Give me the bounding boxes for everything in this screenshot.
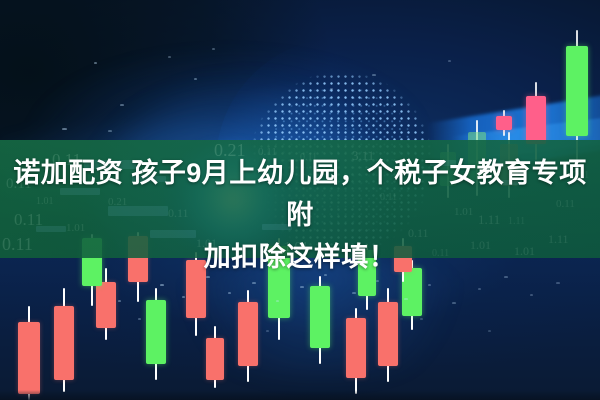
candle-body (378, 302, 398, 366)
candle-body (566, 46, 588, 136)
headline-line-2: 加扣除这样填！ (0, 236, 600, 278)
candle-body (238, 302, 258, 366)
candlestick (18, 306, 40, 400)
candlestick (206, 326, 224, 388)
candle-body (496, 116, 512, 130)
candlestick (378, 288, 398, 382)
candlestick (346, 308, 366, 394)
candlestick (496, 110, 512, 136)
candle-body (526, 96, 546, 144)
candlestick (146, 288, 166, 380)
candle-body (206, 338, 224, 380)
candle-body (54, 306, 74, 380)
candle-body (18, 322, 40, 394)
candlestick (238, 290, 258, 382)
candle-body (346, 318, 366, 378)
headline-line-1: 诺加配资 孩子9月上幼儿园，个税子女教育专项附 (0, 152, 600, 236)
candlestick (54, 288, 74, 392)
candle-body (310, 286, 330, 348)
bottom-edge-vignette (0, 390, 600, 400)
banner-image: 0.110.111.010.111.010.110.210.110.110.21… (0, 0, 600, 400)
candlestick (310, 276, 330, 364)
headline: 诺加配资 孩子9月上幼儿园，个税子女教育专项附 加扣除这样填！ (0, 152, 600, 278)
candle-body (146, 300, 166, 364)
